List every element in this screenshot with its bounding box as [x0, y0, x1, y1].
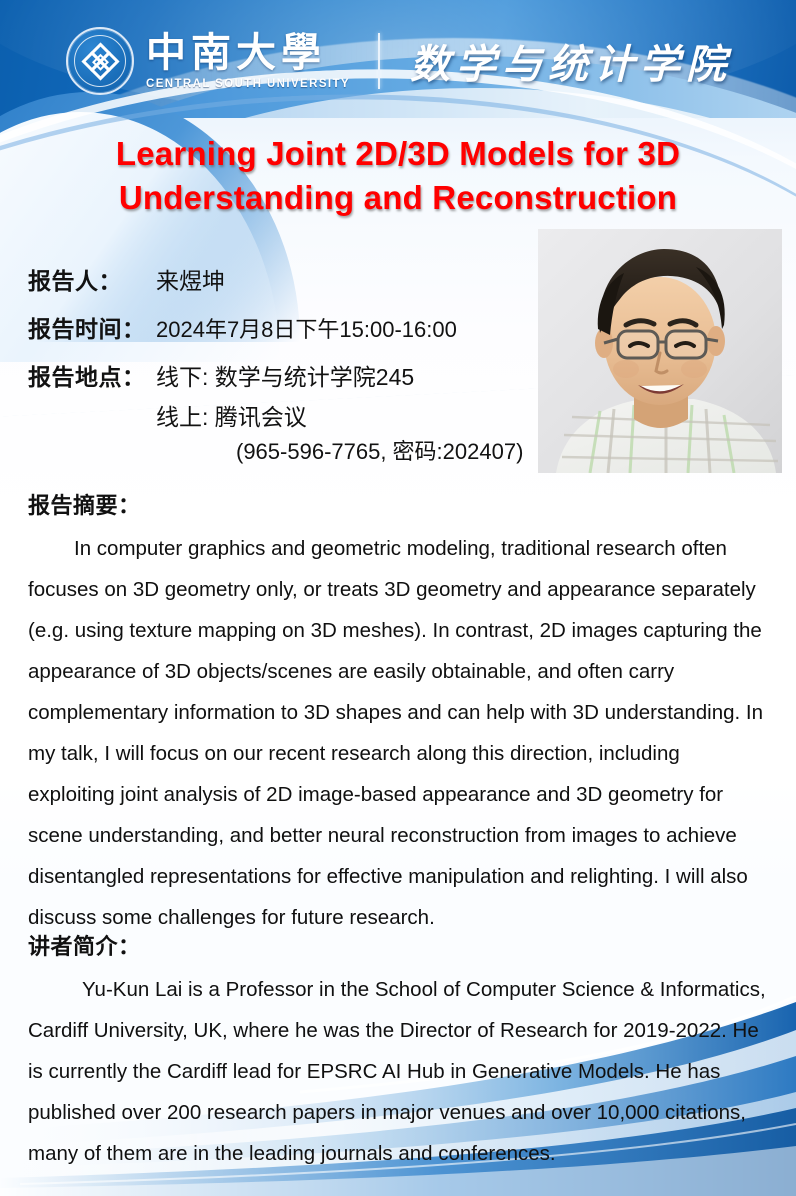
- vertical-divider-icon: [378, 33, 380, 89]
- poster-root: 中南大學 CENTRAL SOUTH UNIVERSITY 数学与统计学院 Le…: [0, 0, 796, 1196]
- abstract-label: 报告摘要：: [28, 488, 141, 520]
- meeting-id-value: (965-596-7765, 密码:202407): [236, 434, 548, 466]
- place-offline-value: 线下: 数学与统计学院245: [156, 358, 414, 392]
- university-name-block: 中南大學 CENTRAL SOUTH UNIVERSITY: [146, 33, 350, 90]
- university-name-cn: 中南大學: [146, 33, 350, 73]
- place-online-value: 线上: 腾讯会议: [156, 398, 548, 432]
- speaker-photo: [538, 229, 782, 473]
- talk-info: 报告人： 来煜坤 报告时间： 2024年7月8日下午15:00-16:00 报告…: [28, 262, 548, 466]
- logo-row: 中南大學 CENTRAL SOUTH UNIVERSITY 数学与统计学院: [66, 26, 732, 96]
- school-name-cn: 数学与统计学院: [410, 32, 732, 90]
- place-label: 报告地点：: [28, 358, 156, 392]
- speaker-label: 报告人：: [28, 262, 156, 296]
- time-value: 2024年7月8日下午15:00-16:00: [156, 312, 457, 344]
- time-label: 报告时间：: [28, 310, 156, 344]
- page-title: Learning Joint 2D/3D Models for 3D Under…: [40, 132, 756, 220]
- csu-emblem-icon: [66, 27, 134, 95]
- info-row-speaker: 报告人： 来煜坤: [28, 262, 548, 296]
- bio-text: Yu-Kun Lai is a Professor in the School …: [28, 969, 772, 1174]
- info-row-time: 报告时间： 2024年7月8日下午15:00-16:00: [28, 310, 548, 344]
- abstract-text: In computer graphics and geometric model…: [28, 528, 772, 938]
- university-name-en: CENTRAL SOUTH UNIVERSITY: [146, 78, 350, 90]
- bio-label: 讲者简介：: [28, 929, 141, 961]
- info-row-place: 报告地点： 线下: 数学与统计学院245: [28, 358, 548, 392]
- speaker-value: 来煜坤: [156, 262, 225, 296]
